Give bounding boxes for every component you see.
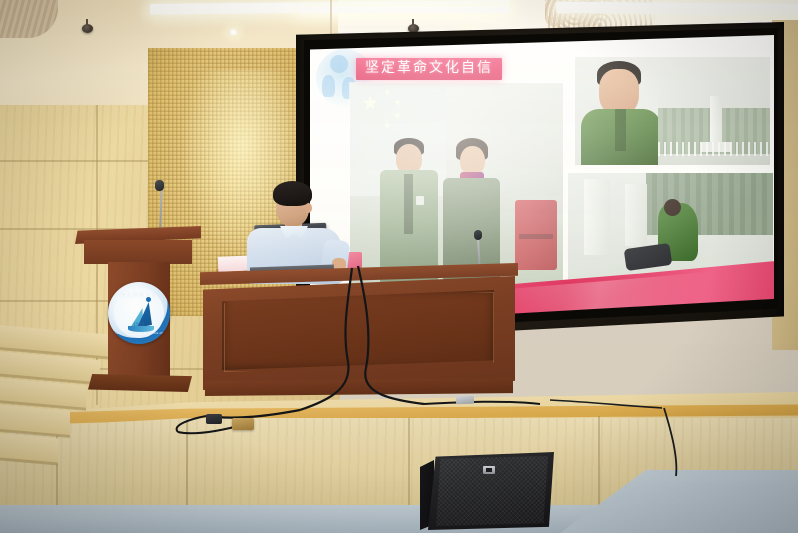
podium-microphone-icon [155,180,164,191]
ceiling-speaker-icon [82,24,93,33]
podium-face [84,240,192,264]
emblem-cn-text: 河北科技大学 [108,292,170,299]
projector-light-wash [310,35,774,325]
desk-panel-moulding [224,292,494,372]
podium-base [88,374,192,392]
university-emblem: 河北科技大学 1933 HEBEI UNIVERSITY OF SCIENCE … [108,282,170,344]
emblem-dot [146,297,151,302]
presenter-hair [273,181,312,206]
emblem-en-text: HEBEI UNIVERSITY OF SCIENCE AND TECHNOLO… [108,332,170,338]
projection-screen: 坚定革命文化自信 [310,35,774,325]
cable-connector-box [206,414,222,424]
lecture-hall-photo: 坚定革命文化自信 河北科技大学 1933 HEBEI UNIVERSITY OF… [0,0,798,533]
cable-connector-box [232,418,254,430]
emblem-year: 1933 [108,323,170,328]
desk-microphone-icon [474,230,482,240]
ceiling-downlight [228,29,239,35]
stage-floor-device [456,396,474,405]
presenter-ear [305,203,312,213]
speaker-badge-icon [483,466,495,474]
